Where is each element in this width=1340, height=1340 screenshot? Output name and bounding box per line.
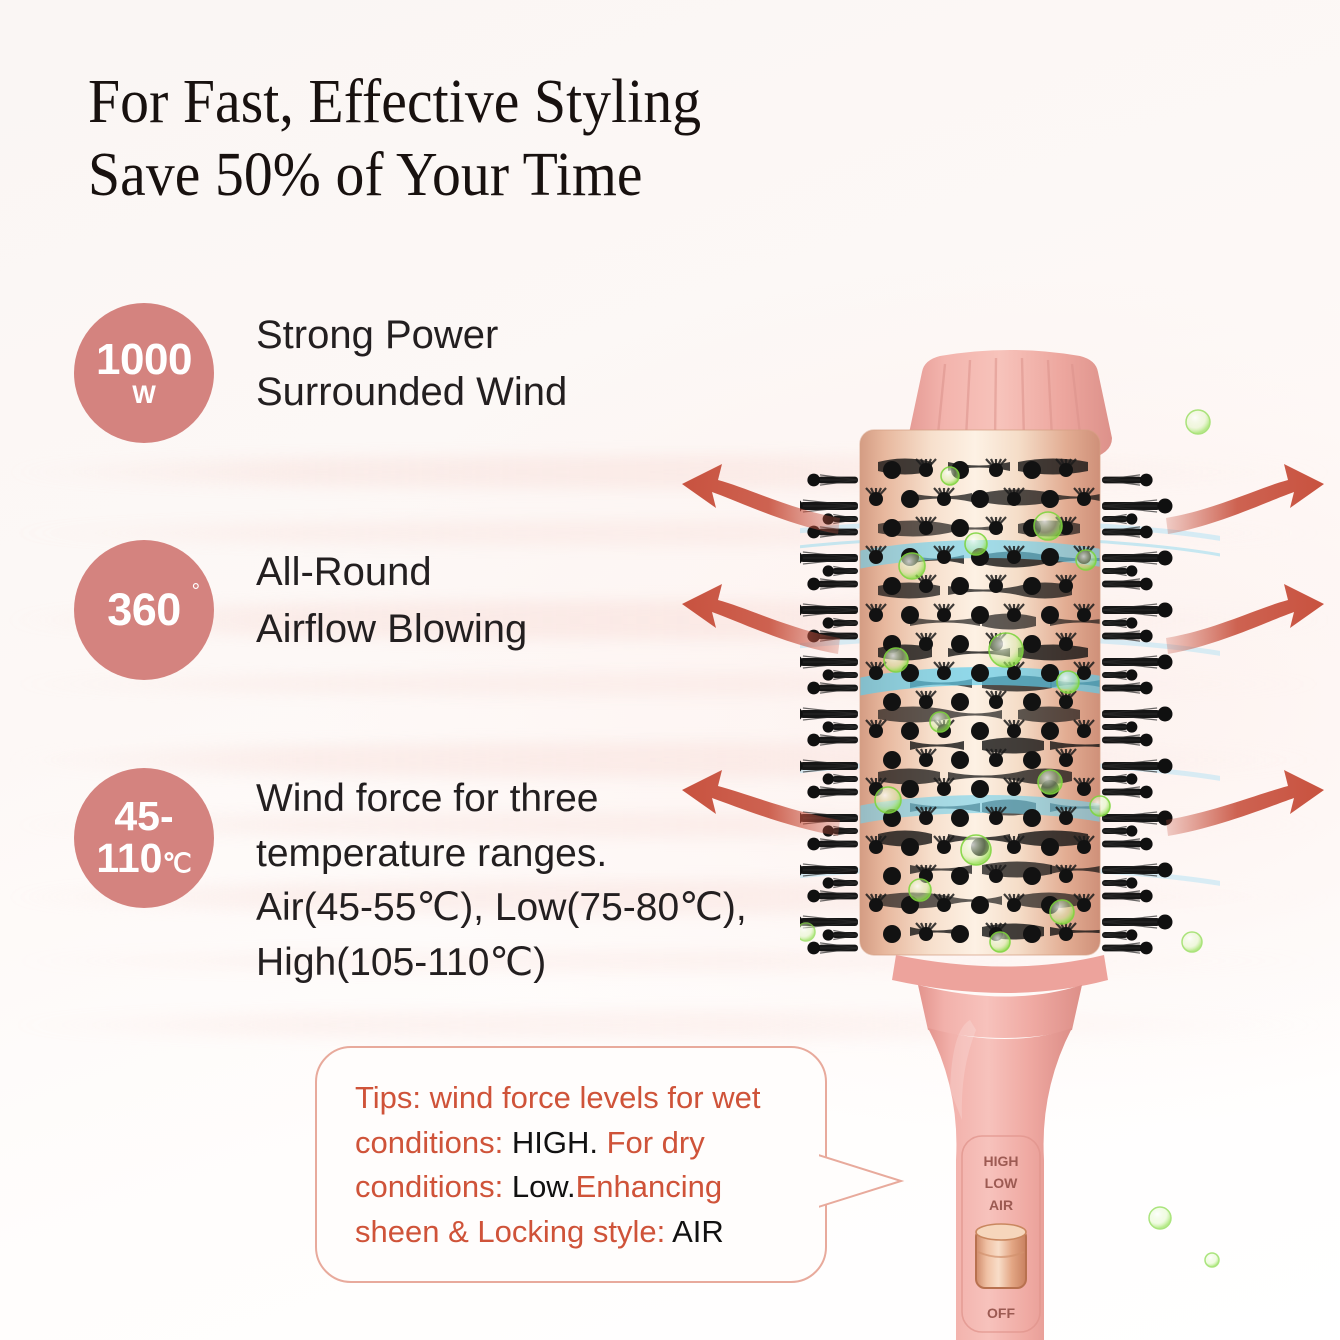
badge-temp-value: 110 [96,835,162,881]
badge-temperature: 45- 110℃ [74,768,214,908]
switch-knob [976,1224,1026,1288]
feature-airflow-text: All-Round Airflow Blowing [256,540,527,658]
feature-row-airflow: 360 ° All-Round Airflow Blowing [74,540,527,680]
badge-360-value: 360 [107,588,181,632]
feature-row-temperature: 45- 110℃ Wind force for three temperatur… [74,768,747,990]
tips-callout: Tips: wind force levels for wet conditio… [315,1046,827,1283]
feature-row-power: 1000 W Strong Power Surrounded Wind [74,303,567,443]
tips-highlight-air: AIR [672,1214,724,1249]
svg-text:LOW: LOW [985,1175,1018,1191]
badge-power: 1000 W [74,303,214,443]
badge-temp-line2: 110℃ [96,838,191,880]
infographic-canvas: HIGH LOW AIR OFF For [0,0,1340,1340]
badge-power-unit: W [132,383,156,408]
badge-temp-line1: 45- [114,796,173,838]
tips-highlight-high: HIGH. [512,1125,598,1160]
svg-text:HIGH: HIGH [984,1153,1019,1169]
feature-power-text: Strong Power Surrounded Wind [256,303,567,421]
badge-360: 360 ° [74,540,214,680]
svg-text:AIR: AIR [989,1197,1013,1213]
tips-callout-tail [815,1150,905,1212]
badge-power-value: 1000 [96,338,192,381]
feature-temperature-text: Wind force for three temperature ranges.… [256,768,747,990]
degree-icon: ° [192,580,200,604]
tips-highlight-low: Low. [512,1169,576,1204]
badge-temp-unit: ℃ [162,848,191,878]
svg-text:OFF: OFF [987,1305,1015,1321]
page-title: For Fast, Effective Styling Save 50% of … [88,66,832,211]
